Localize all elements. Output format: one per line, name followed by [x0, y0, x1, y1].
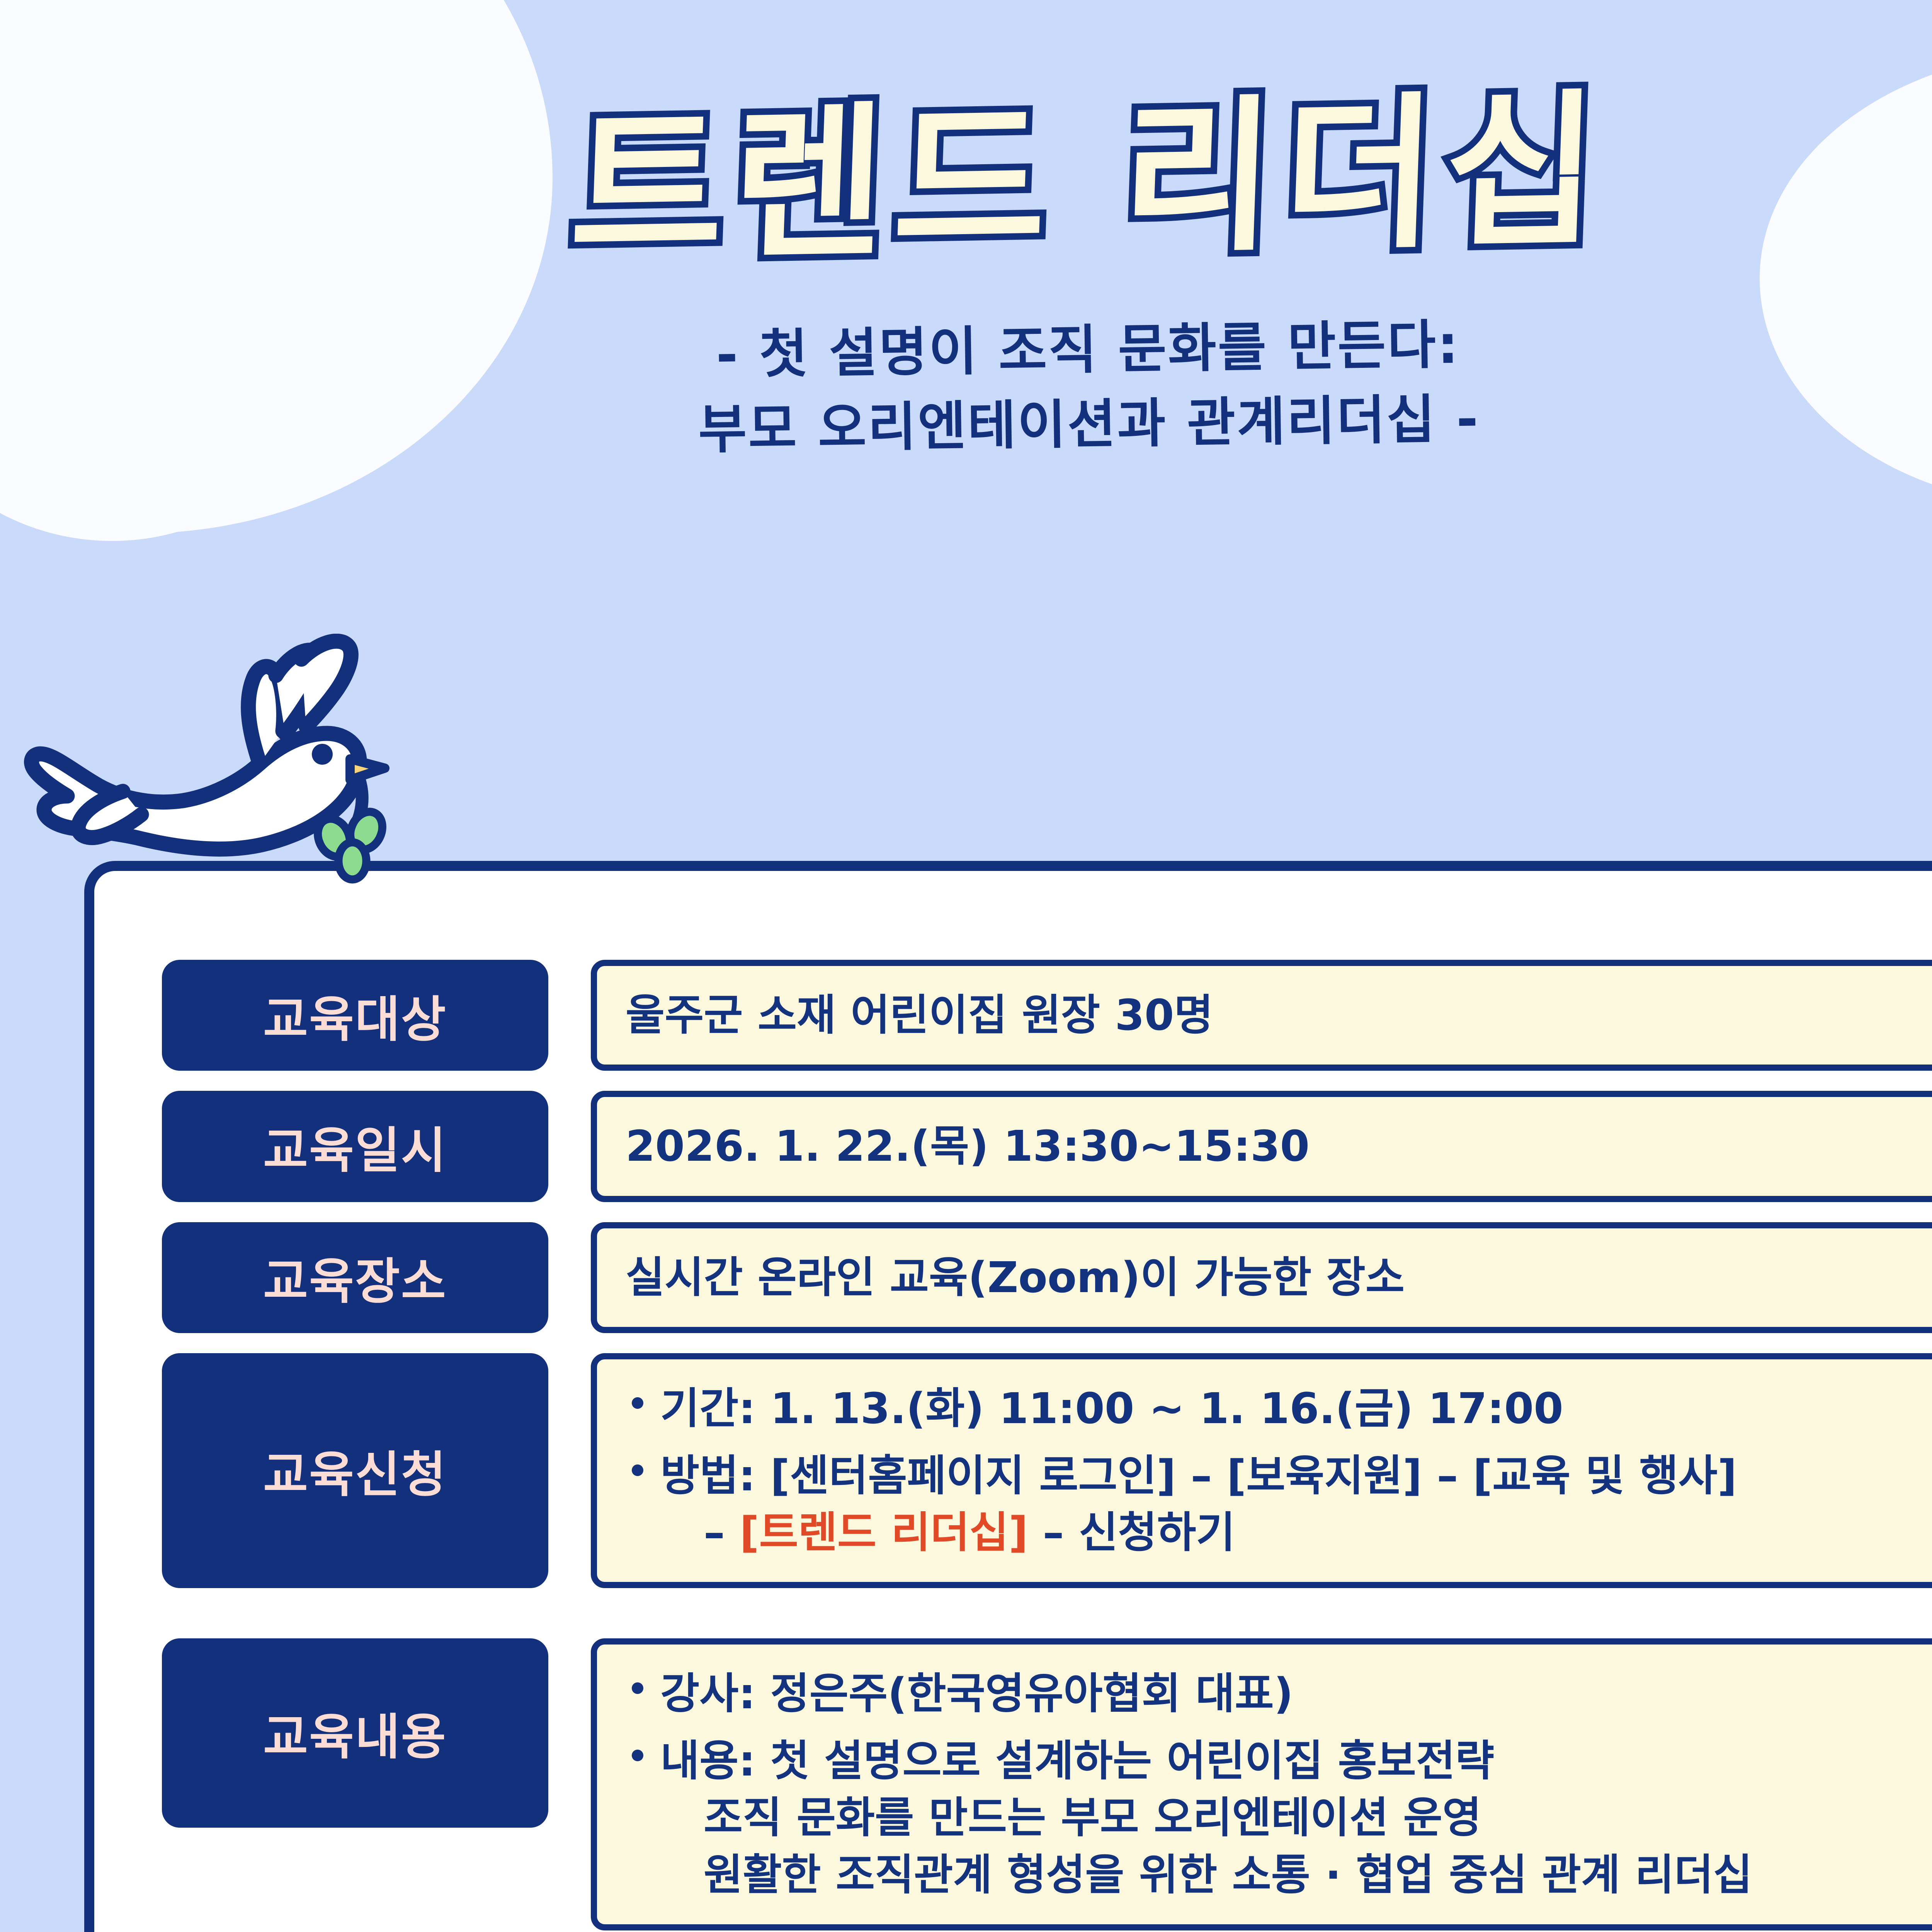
apply-sub-post: – 신청하기 — [1028, 1508, 1235, 1557]
location-text: 실시간 온라인 교육(Zoom)이 가능한 장소 — [626, 1249, 1932, 1306]
row-label-target: 교육대상 — [162, 960, 548, 1071]
content-instructor-text: 강사: 정은주(한국영유아협회 대표) — [660, 1669, 1293, 1718]
apply-method-item: 방법: [센터홈페이지 로그인] – [보육지원] – [교육 및 행사] – … — [626, 1447, 1932, 1561]
info-row-apply: 교육신청 기간: 1. 13.(화) 11:00 ~ 1. 16.(금) 17:… — [94, 1353, 1932, 1588]
row-value-content: 강사: 정은주(한국영유아협회 대표) 내용: 첫 설명으로 설계하는 어린이집… — [591, 1638, 1932, 1930]
poster-header: 트렌드 리더십 - 첫 설명이 조직 문화를 만든다: 부모 오리엔테이션과 관… — [0, 97, 1932, 462]
datetime-text: 2026. 1. 22.(목) 13:30~15:30 — [626, 1118, 1932, 1175]
row-label-datetime: 교육일시 — [162, 1091, 548, 1202]
row-value-apply: 기간: 1. 13.(화) 11:00 ~ 1. 16.(금) 17:00 방법… — [591, 1353, 1932, 1588]
row-label-apply: 교육신청 — [162, 1353, 548, 1588]
content-bullet-list: 강사: 정은주(한국영유아협회 대표) 내용: 첫 설명으로 설계하는 어린이집… — [626, 1665, 1932, 1903]
content-detail-line2: 조직 문화를 만드는 부모 오리엔테이션 운영 — [660, 1789, 1932, 1846]
apply-method-text: 방법: [센터홈페이지 로그인] – [보육지원] – [교육 및 행사] — [660, 1451, 1737, 1500]
apply-sub-highlight: [트렌드 리더십] — [740, 1508, 1028, 1557]
content-detail-line1: 내용: 첫 설명으로 설계하는 어린이집 홍보전략 — [660, 1736, 1494, 1786]
poster-subtitle: - 첫 설명이 조직 문화를 만든다: 부모 오리엔테이션과 관계리더십 - — [0, 298, 1932, 478]
info-row-datetime: 교육일시 2026. 1. 22.(목) 13:30~15:30 — [94, 1091, 1932, 1202]
row-value-datetime: 2026. 1. 22.(목) 13:30~15:30 — [591, 1091, 1932, 1202]
apply-method-subline: – [트렌드 리더십] – 신청하기 — [660, 1504, 1932, 1561]
dove-icon — [12, 634, 406, 912]
info-row-content: 교육내용 강사: 정은주(한국영유아협회 대표) 내용: 첫 설명으로 설계하는… — [94, 1638, 1932, 1930]
info-row-location: 교육장소 실시간 온라인 교육(Zoom)이 가능한 장소 — [94, 1222, 1932, 1333]
row-value-location: 실시간 온라인 교육(Zoom)이 가능한 장소 — [591, 1222, 1932, 1333]
apply-sub-pre: – — [704, 1508, 740, 1557]
apply-period-text: 기간: 1. 13.(화) 11:00 ~ 1. 16.(금) 17:00 — [660, 1384, 1563, 1433]
content-detail-item: 내용: 첫 설명으로 설계하는 어린이집 홍보전략 조직 문화를 만드는 부모 … — [626, 1733, 1932, 1903]
poster-title: 트렌드 리더십 — [568, 88, 1609, 272]
apply-bullet-list: 기간: 1. 13.(화) 11:00 ~ 1. 16.(금) 17:00 방법… — [626, 1380, 1932, 1561]
row-label-location: 교육장소 — [162, 1222, 548, 1333]
row-label-content: 교육내용 — [162, 1638, 548, 1828]
content-instructor-item: 강사: 정은주(한국영유아협회 대표) — [626, 1665, 1932, 1722]
main-info-card: 교육대상 울주군 소재 어린이집 원장 30명 교육일시 2026. 1. 22… — [84, 861, 1932, 1932]
info-row-target: 교육대상 울주군 소재 어린이집 원장 30명 — [94, 960, 1932, 1071]
content-detail-line3: 원활한 조직관계 형성을 위한 소통 · 협업 중심 관계 리더십 — [660, 1847, 1932, 1903]
apply-period-item: 기간: 1. 13.(화) 11:00 ~ 1. 16.(금) 17:00 — [626, 1380, 1932, 1437]
row-value-target: 울주군 소재 어린이집 원장 30명 — [591, 960, 1932, 1071]
target-text: 울주군 소재 어린이집 원장 30명 — [626, 987, 1932, 1044]
